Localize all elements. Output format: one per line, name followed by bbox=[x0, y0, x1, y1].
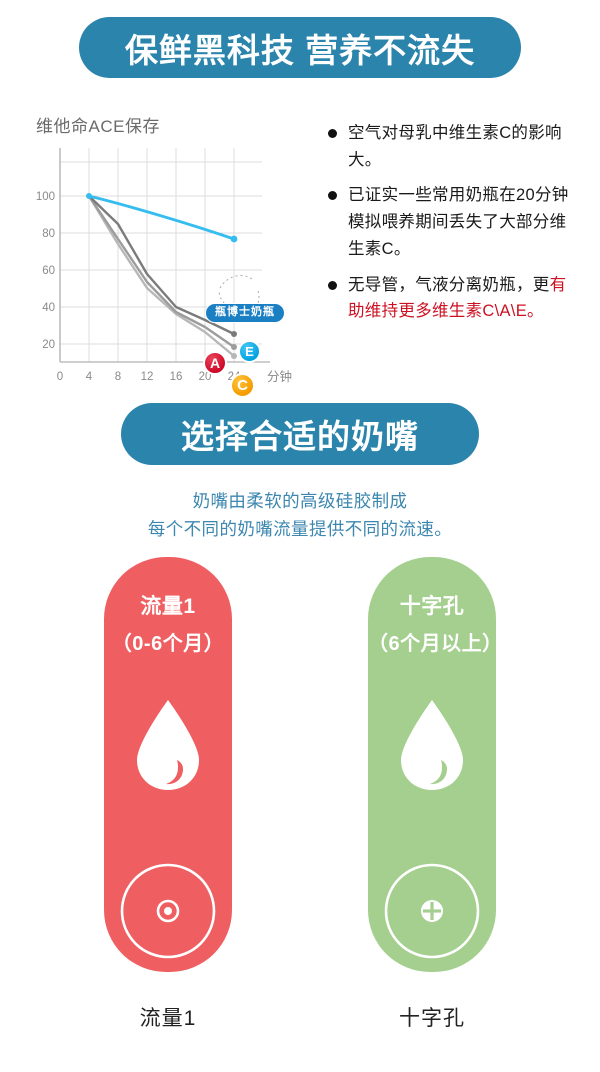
bullet-dot-icon bbox=[328, 281, 337, 290]
nipple-card-cross-caption: 十字孔 bbox=[342, 1002, 522, 1032]
svg-text:100: 100 bbox=[36, 191, 55, 203]
nipple-subtitle-line-1: 奶嘴由柔软的高级硅胶制成 bbox=[0, 487, 600, 515]
svg-text:40: 40 bbox=[42, 302, 55, 314]
nipple-subtitle: 奶嘴由柔软的高级硅胶制成 每个不同的奶嘴流量提供不同的流速。 bbox=[0, 487, 600, 544]
nipple-card-flow1: 流量1 （0-6个月） bbox=[104, 557, 232, 972]
nipple-card-cross-title: 十字孔 bbox=[368, 590, 496, 620]
vitamin-e-badge: E bbox=[238, 340, 261, 363]
series-ordinary-a-endpoint bbox=[231, 331, 237, 337]
cross-cut-hole-icon bbox=[383, 862, 481, 960]
vitamin-c-badge: C bbox=[230, 373, 255, 398]
nipple-card-cross-subtitle: （6个月以上） bbox=[368, 627, 496, 656]
nipple-card-cross: 十字孔 （6个月以上） bbox=[368, 557, 496, 972]
chart-gridlines-vertical bbox=[89, 148, 234, 362]
vitamin-a-badge: A bbox=[203, 351, 227, 375]
svg-text:8: 8 bbox=[115, 371, 121, 383]
bullet-item-3: 无导管，气液分离奶瓶，更有助维持更多维生素C\A\E。 bbox=[328, 272, 583, 325]
svg-text:60: 60 bbox=[42, 265, 55, 277]
benefits-bullet-list: 空气对母乳中维生素C的影响大。 已证实一些常用奶瓶在20分钟模拟喂养期间丢失了大… bbox=[328, 120, 583, 334]
bullet-text-3-lead: 无导管，气液分离奶瓶，更 bbox=[348, 276, 550, 294]
water-drop-icon bbox=[131, 697, 205, 793]
nipple-card-flow1-caption: 流量1 bbox=[78, 1002, 258, 1032]
top-banner-text: 保鲜黑科技 营养不流失 bbox=[125, 24, 475, 72]
series-ordinary-b-endpoint bbox=[231, 344, 237, 350]
svg-text:16: 16 bbox=[170, 371, 183, 383]
single-round-hole-icon bbox=[119, 862, 217, 960]
series-ordinary-c-endpoint bbox=[231, 353, 237, 359]
bullet-text-2: 已证实一些常用奶瓶在20分钟模拟喂养期间丢失了大部分维生素C。 bbox=[348, 182, 583, 262]
chart-title: 维他命ACE保存 bbox=[36, 112, 160, 137]
svg-text:20: 20 bbox=[42, 339, 55, 351]
nipple-card-flow1-title: 流量1 bbox=[104, 590, 232, 620]
bullet-item-1: 空气对母乳中维生素C的影响大。 bbox=[328, 120, 583, 173]
water-drop-icon bbox=[395, 697, 469, 793]
series-dr-bottle-endpoint bbox=[231, 236, 238, 243]
chart-y-tick-labels: 100 80 60 40 20 bbox=[36, 191, 55, 351]
chart-x-axis-label: 分钟 bbox=[267, 369, 292, 384]
svg-text:4: 4 bbox=[86, 371, 93, 383]
bullet-item-2: 已证实一些常用奶瓶在20分钟模拟喂养期间丢失了大部分维生素C。 bbox=[328, 182, 583, 262]
bullet-text-1: 空气对母乳中维生素C的影响大。 bbox=[348, 120, 583, 173]
svg-text:80: 80 bbox=[42, 228, 55, 240]
bullet-dot-icon bbox=[328, 191, 337, 200]
svg-text:0: 0 bbox=[57, 371, 63, 383]
svg-text:12: 12 bbox=[141, 371, 154, 383]
nipple-card-flow1-subtitle: （0-6个月） bbox=[104, 627, 232, 656]
bullet-text-3: 无导管，气液分离奶瓶，更有助维持更多维生素C\A\E。 bbox=[348, 272, 583, 325]
chart-legend-dr-bottle: 瓶博士奶瓶 bbox=[205, 303, 285, 323]
nipple-subtitle-line-2: 每个不同的奶嘴流量提供不同的流速。 bbox=[0, 515, 600, 543]
series-dr-bottle-start-point bbox=[86, 193, 92, 199]
top-banner: 保鲜黑科技 营养不流失 bbox=[79, 17, 521, 78]
middle-banner-text: 选择合适的奶嘴 bbox=[181, 410, 419, 458]
bullet-dot-icon bbox=[328, 129, 337, 138]
middle-banner: 选择合适的奶嘴 bbox=[121, 403, 479, 465]
